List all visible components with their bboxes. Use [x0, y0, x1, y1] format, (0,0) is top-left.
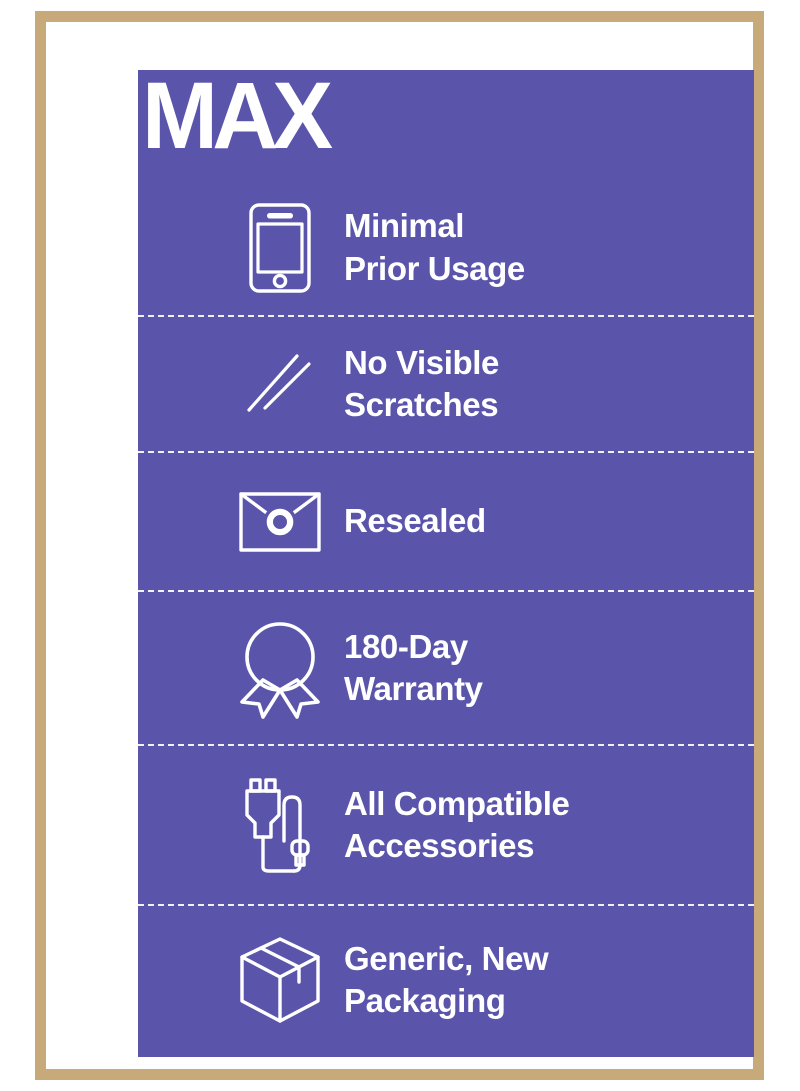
package-box-icon — [234, 935, 326, 1025]
brand-wordmark: MAX — [142, 70, 430, 166]
feature-label: No Visible Scratches — [326, 342, 754, 426]
feature-row-resealed[interactable]: Resealed — [138, 453, 754, 590]
feature-row-no-visible-scratches[interactable]: No Visible Scratches — [138, 317, 754, 451]
feature-label: All Compatible Accessories — [326, 783, 754, 867]
feature-label: Minimal Prior Usage — [326, 205, 754, 289]
purple-feature-panel: MAX Minimal Prior Usage — [138, 70, 754, 1057]
feature-row-minimal-prior-usage[interactable]: Minimal Prior Usage — [138, 180, 754, 315]
scratches-icon — [234, 351, 326, 417]
feature-row-all-compatible-accessories[interactable]: All Compatible Accessories — [138, 746, 754, 904]
smartphone-icon — [234, 202, 326, 294]
usb-cable-icon — [234, 775, 326, 875]
award-ribbon-icon — [234, 616, 326, 720]
gold-border-frame: MAX Minimal Prior Usage — [35, 11, 764, 1080]
feature-row-generic-new-packaging[interactable]: Generic, New Packaging — [138, 906, 754, 1054]
sealed-envelope-icon — [234, 489, 326, 555]
feature-list: Minimal Prior Usage No Visible Scratches — [138, 180, 754, 1054]
feature-row-180-day-warranty[interactable]: 180-Day Warranty — [138, 592, 754, 744]
poster-canvas: MAX Minimal Prior Usage — [0, 0, 800, 1091]
feature-label: 180-Day Warranty — [326, 626, 754, 710]
feature-label: Resealed — [326, 500, 754, 542]
feature-label: Generic, New Packaging — [326, 938, 754, 1022]
